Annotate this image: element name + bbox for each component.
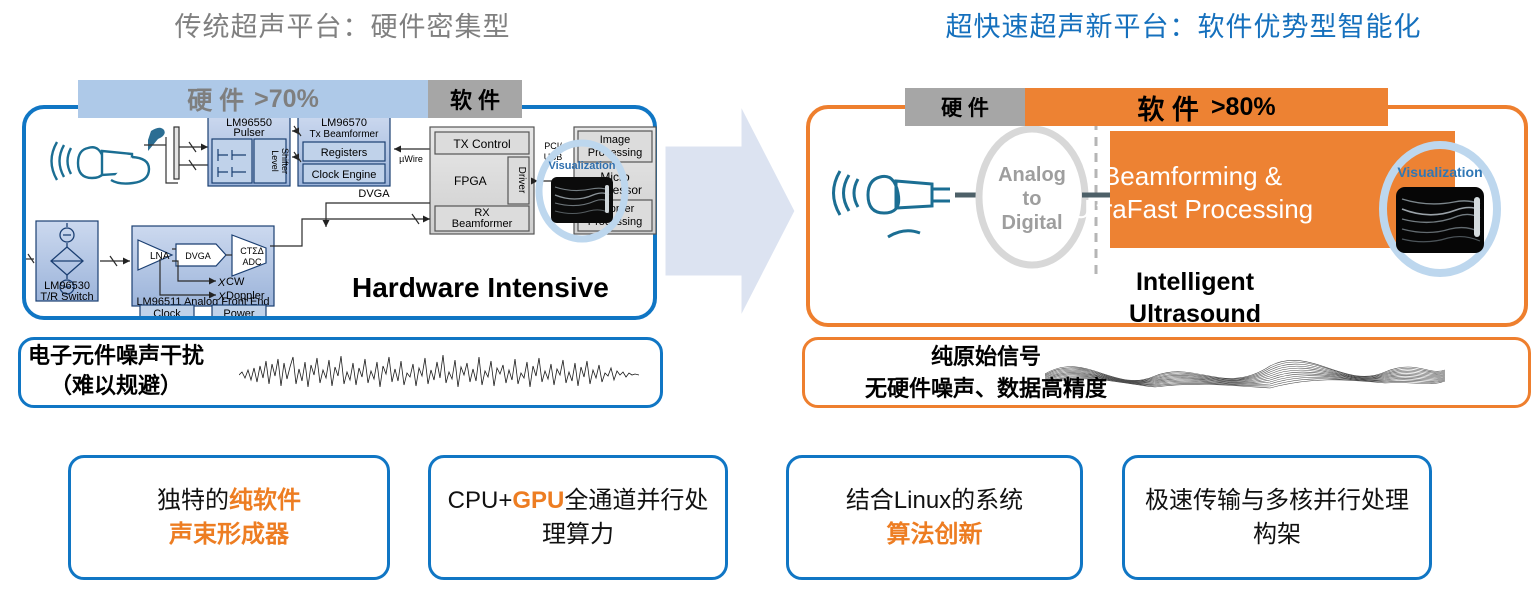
- feature-2-accent-2: 算法创新: [887, 521, 983, 548]
- feature-1-accent-1: GPU: [512, 487, 564, 514]
- beamforming-process-label: Beamforming & UltraFast Processing: [1040, 160, 1345, 226]
- svg-text:Level: Level: [270, 150, 280, 172]
- header-left-title: 传统超声平台：硬件密集型: [175, 5, 511, 44]
- process-line-2: UltraFast Processing: [1040, 193, 1345, 226]
- ratio-hardware-label-right: 硬 件: [941, 92, 989, 122]
- transition-arrow-icon: [660, 100, 800, 322]
- svg-text:Tx Beamformer: Tx Beamformer: [310, 129, 380, 140]
- noise-left-line-2: （难以规避）: [28, 371, 204, 401]
- ratio-software-label-left: 软 件: [450, 83, 500, 115]
- header-right-title: 超快速超声新平台：软件优势型智能化: [946, 5, 1422, 44]
- svg-text:Registers: Registers: [321, 147, 368, 159]
- feature-0-accent-2: 声束形成器: [169, 521, 289, 548]
- svg-text:X: X: [217, 277, 226, 289]
- ratio-software-pct-right: >80%: [1211, 93, 1276, 122]
- svg-text:CW: CW: [226, 276, 245, 288]
- noise-label-right: 纯原始信号 无硬件噪声、数据高精度: [830, 341, 1142, 405]
- ratio-segment-hardware-left: 硬 件 >70%: [78, 80, 428, 118]
- ratio-segment-software-left: 软 件: [428, 80, 522, 118]
- svg-text:µWire: µWire: [399, 154, 423, 164]
- hardware-intensive-caption: Hardware Intensive: [352, 272, 609, 304]
- header-left-panel: 传统超声平台：硬件密集型: [30, 0, 655, 48]
- feature-box-2[interactable]: 结合Linux的系统 算法创新: [786, 455, 1083, 580]
- svg-text:LM96570: LM96570: [321, 117, 367, 129]
- feature-1-plain-1: CPU+: [448, 487, 513, 514]
- ratio-hardware-label-left: 硬 件: [187, 81, 244, 117]
- svg-text:Beamformer: Beamformer: [452, 218, 513, 230]
- process-line-1: Beamforming &: [1040, 160, 1345, 193]
- feature-1-plain-2: 全通道并行处理算力: [542, 487, 708, 548]
- caption-line-2: Ultrasound: [1055, 298, 1335, 330]
- feature-box-1[interactable]: CPU+GPU全通道并行处理算力: [428, 455, 728, 580]
- svg-text:Visualization: Visualization: [548, 160, 615, 172]
- visualization-badge-right: Visualization: [1370, 139, 1510, 279]
- svg-text:FPGA: FPGA: [454, 174, 487, 188]
- feature-box-3[interactable]: 极速传输与多核并行处理构架: [1122, 455, 1432, 580]
- ratio-bar-right: 硬 件 软 件 >80%: [905, 88, 1388, 126]
- svg-text:DVGA: DVGA: [185, 251, 211, 261]
- svg-text:DVGA: DVGA: [358, 188, 390, 200]
- header-right-panel: 超快速超声新平台：软件优势型智能化: [832, 0, 1535, 48]
- svg-text:CTΣΔ: CTΣΔ: [240, 246, 264, 256]
- ratio-bar-left: 硬 件 >70% 软 件: [78, 80, 522, 118]
- feature-0-accent-1: 纯软件: [229, 487, 301, 514]
- adc-line-2: to: [1023, 188, 1042, 210]
- svg-text:TX Control: TX Control: [453, 137, 510, 151]
- svg-text:Driver: Driver: [516, 167, 527, 194]
- ratio-software-label-right: 软 件: [1137, 88, 1199, 127]
- svg-text:ADC: ADC: [242, 257, 262, 267]
- svg-text:Clock Engine: Clock Engine: [312, 169, 377, 181]
- svg-text:Pulser: Pulser: [233, 127, 265, 139]
- noise-right-line-2: 无硬件噪声、数据高精度: [830, 373, 1142, 405]
- svg-text:Power: Power: [223, 308, 255, 316]
- svg-text:T/R Switch: T/R Switch: [40, 291, 93, 303]
- noise-left-line-1: 电子元件噪声干扰: [28, 341, 204, 371]
- ratio-segment-software-right: 软 件 >80%: [1025, 88, 1388, 126]
- visualization-label-right: Visualization: [1397, 164, 1482, 180]
- noise-label-left: 电子元件噪声干扰 （难以规避）: [28, 341, 204, 401]
- feature-box-0[interactable]: 独特的纯软件 声束形成器: [68, 455, 390, 580]
- noise-right-line-1: 纯原始信号: [830, 341, 1142, 373]
- ratio-hardware-pct-left: >70%: [254, 85, 319, 114]
- feature-0-plain-1: 独特的: [157, 487, 229, 514]
- caption-line-1: Intelligent: [1055, 266, 1335, 298]
- feature-2-plain-1: 结合Linux的系统: [846, 487, 1023, 514]
- noise-waveform-left: [239, 348, 639, 400]
- feature-3-plain-1: 极速传输与多核并行处理构架: [1145, 487, 1409, 548]
- visualization-badge-left: Visualization: [529, 139, 635, 244]
- intelligent-ultrasound-caption: Intelligent Ultrasound: [1055, 266, 1335, 330]
- svg-text:Shifter: Shifter: [280, 148, 290, 174]
- svg-text:Clock: Clock: [153, 308, 181, 316]
- ratio-segment-hardware-right: 硬 件: [905, 88, 1025, 126]
